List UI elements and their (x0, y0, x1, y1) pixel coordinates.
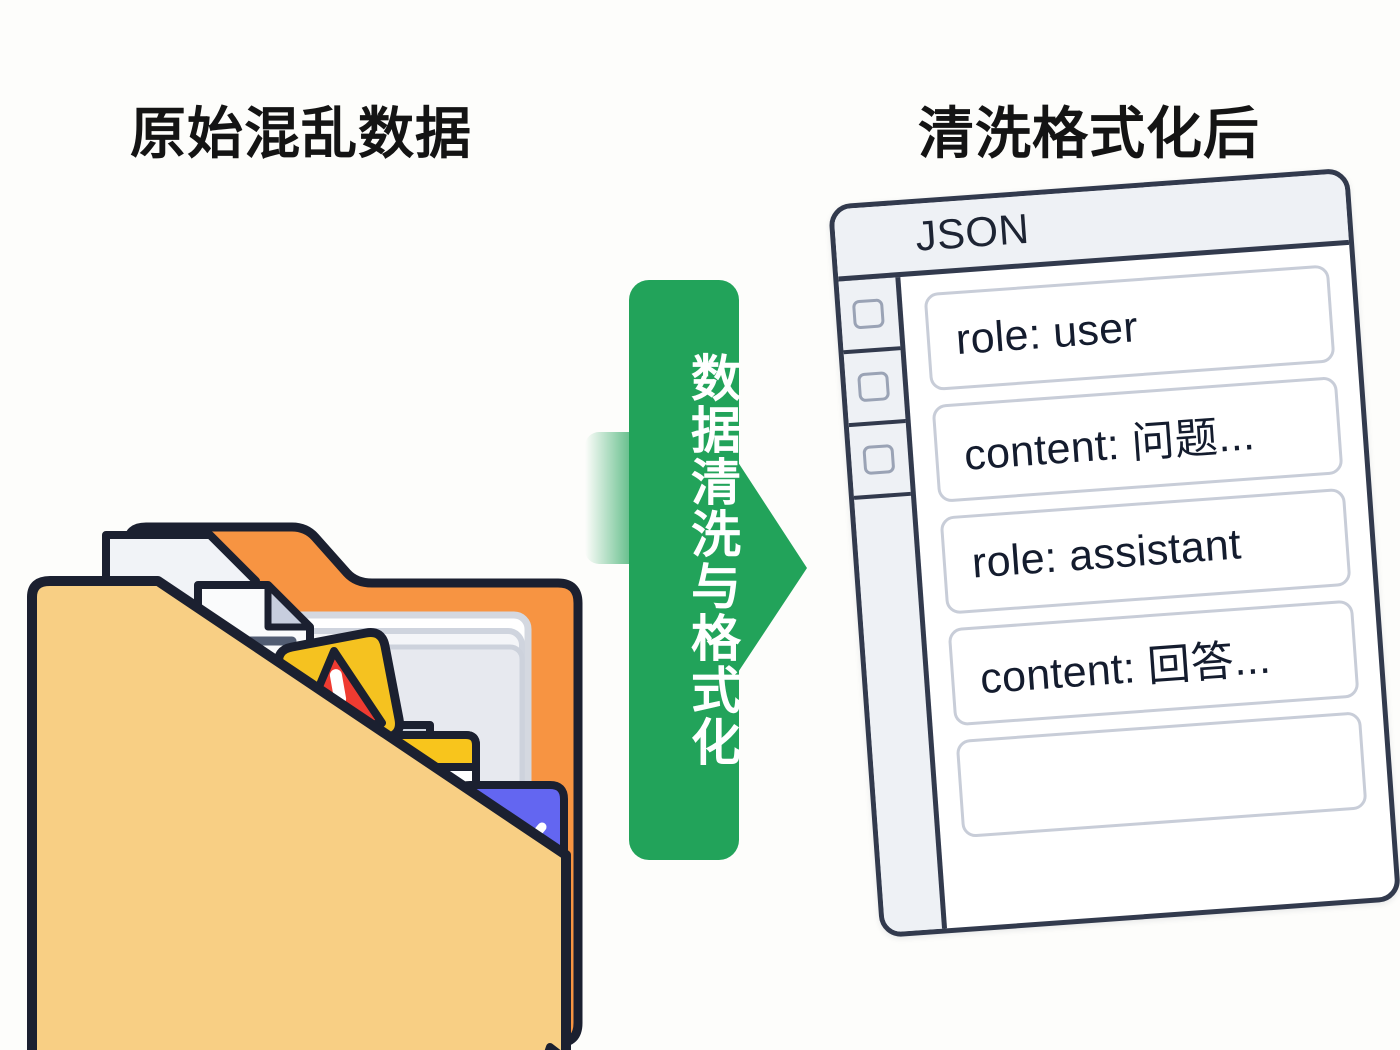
left-title: 原始混乱数据 (130, 106, 472, 162)
row-checkbox[interactable] (862, 444, 895, 475)
json-row[interactable]: role: user (924, 264, 1336, 391)
arrow-label: 数据清洗与格式化 (668, 305, 738, 815)
json-row-text: role: assistant (970, 520, 1243, 588)
panel-title: JSON (914, 205, 1031, 261)
right-title: 清洗格式化后 (918, 106, 1260, 162)
json-row-list: role: user content: 问题... role: assistan… (900, 245, 1396, 929)
json-panel: JSON role: user content: 问题... role: ass… (828, 167, 1400, 943)
json-row-text: content: 回答... (978, 624, 1273, 707)
json-row[interactable]: content: 问题... (932, 376, 1344, 503)
json-row[interactable]: role: assistant (940, 488, 1352, 615)
row-checkbox[interactable] (857, 371, 890, 402)
rail-cell (838, 277, 900, 354)
illustration-canvas: 原始混乱数据 清洗格式化后 (0, 0, 1400, 1050)
json-row[interactable]: content: 回答... (948, 600, 1360, 727)
json-row-text: content: 问题... (962, 400, 1257, 483)
json-row[interactable] (956, 711, 1368, 838)
rail-cell (849, 423, 911, 500)
rail-cell (844, 350, 906, 427)
json-row-text: role: user (954, 303, 1139, 365)
messy-data-folder: ? (10, 255, 610, 875)
row-checkbox[interactable] (852, 298, 885, 329)
